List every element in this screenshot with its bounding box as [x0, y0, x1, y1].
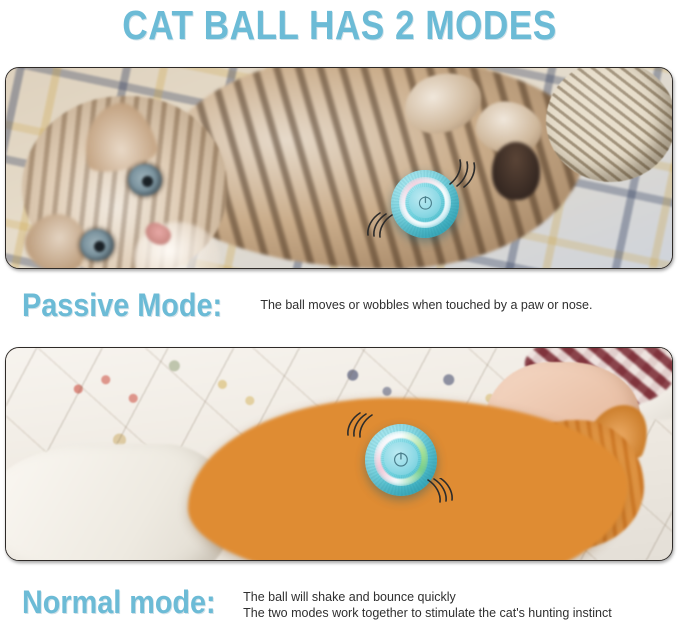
- normal-mode-description-line: The ball will shake and bounce quickly: [243, 589, 612, 605]
- power-icon: [417, 194, 434, 211]
- power-icon: [392, 450, 410, 468]
- ball-button-cap: [384, 442, 417, 475]
- normal-photo-scene: [6, 348, 672, 560]
- kitten-hind-paw: [492, 142, 540, 200]
- smart-ball-normal: [365, 424, 437, 496]
- passive-mode-description-line: The ball moves or wobbles when touched b…: [260, 297, 592, 313]
- kitten-eye: [128, 164, 162, 196]
- tabby-kitten-head: [22, 96, 227, 268]
- yarn-ball: [546, 68, 672, 182]
- normal-mode-description-line: The two modes work together to stimulate…: [243, 605, 612, 621]
- kitten-pupil: [142, 176, 153, 187]
- passive-mode-description: The ball moves or wobbles when touched b…: [260, 297, 592, 313]
- ball-button-cap: [409, 187, 440, 218]
- page-title: CAT BALL HAS 2 MODES: [48, 2, 632, 48]
- normal-mode-photo: [5, 347, 673, 561]
- passive-photo-scene: [6, 68, 672, 268]
- passive-mode-caption: Passive Mode: The ball moves or wobbles …: [0, 286, 679, 324]
- smart-ball-passive: [391, 170, 459, 238]
- normal-mode-description: The ball will shake and bounce quickly T…: [243, 589, 612, 621]
- kitten-eye: [80, 229, 114, 261]
- normal-mode-label: Normal mode:: [22, 583, 216, 621]
- passive-mode-photo: [5, 67, 673, 269]
- normal-mode-caption: Normal mode: The ball will shake and bou…: [0, 583, 679, 621]
- passive-mode-label: Passive Mode:: [22, 286, 222, 324]
- kitten-pupil: [94, 241, 105, 252]
